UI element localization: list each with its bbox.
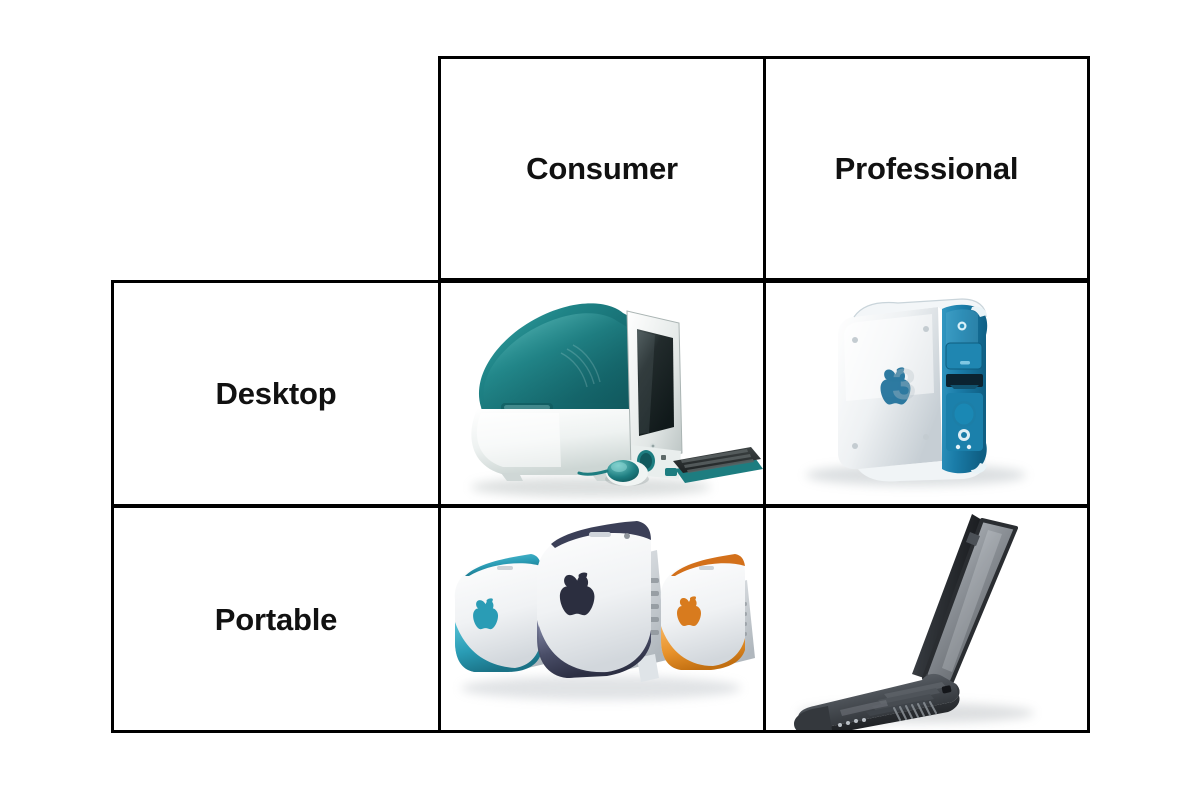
ibook-g3-clamshell-photo <box>441 508 763 730</box>
power-macintosh-g3-photo: 3 <box>766 283 1087 504</box>
cell-consumer-portable <box>438 505 766 733</box>
powerbook-g3-photo <box>766 508 1087 730</box>
row-header-desktop: Desktop <box>111 280 441 507</box>
column-header-consumer-label: Consumer <box>526 153 678 184</box>
row-header-desktop-label: Desktop <box>216 378 337 409</box>
svg-text:3: 3 <box>892 360 916 409</box>
row-header-portable: Portable <box>111 505 441 733</box>
row-header-portable-label: Portable <box>215 604 337 635</box>
product-matrix: Consumer Professional Desktop Portable <box>111 56 1090 733</box>
cell-professional-desktop: 3 <box>763 280 1090 507</box>
imac-g3-photo <box>441 283 763 504</box>
column-header-consumer: Consumer <box>438 56 766 281</box>
column-header-professional: Professional <box>763 56 1090 281</box>
cell-professional-portable <box>763 505 1090 733</box>
cell-consumer-desktop <box>438 280 766 507</box>
column-header-professional-label: Professional <box>835 153 1019 184</box>
